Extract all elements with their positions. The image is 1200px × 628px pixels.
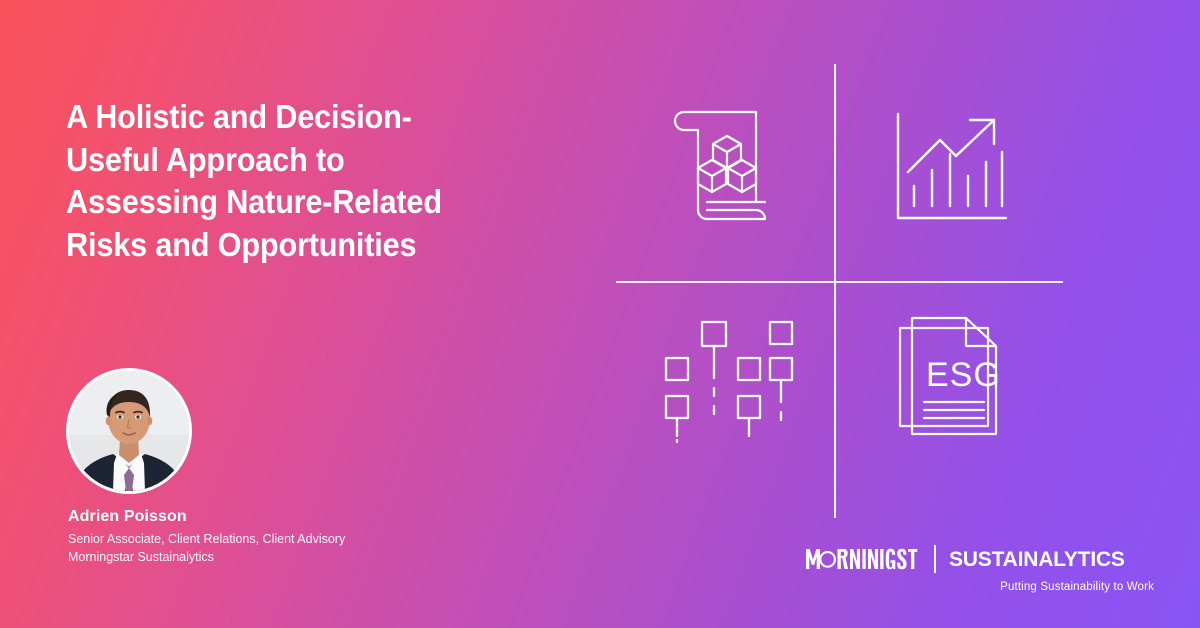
avatar-photo xyxy=(66,368,192,494)
logo-divider xyxy=(934,545,936,573)
sustainalytics-text: SUSTAINALYTICS xyxy=(949,548,1125,571)
esg-document-icon: ESG xyxy=(894,314,1006,438)
sustainalytics-wordmark-glyphs: SUSTAINALYTICS xyxy=(949,547,1149,571)
logo-tagline: Putting Sustainability to Work xyxy=(806,581,1154,593)
esg-label: ESG xyxy=(926,356,1001,394)
webinar-banner: A Holistic and Decision- Useful Approach… xyxy=(0,0,1200,628)
avatar xyxy=(66,368,192,494)
morningstar-wordmark xyxy=(806,546,920,572)
speaker-organization: Morningstar Sustainalytics xyxy=(68,549,488,567)
speaker-info: Adrien Poisson Senior Associate, Client … xyxy=(68,508,488,567)
sustainalytics-wordmark: SUSTAINALYTICS xyxy=(949,547,1149,571)
logo-row: SUSTAINALYTICS xyxy=(806,544,1154,574)
horizontal-divider xyxy=(616,281,1063,283)
vertical-divider xyxy=(834,64,836,518)
quadrant-graphic: ESG xyxy=(608,50,1078,520)
speaker-role: Senior Associate, Client Relations, Clie… xyxy=(68,531,488,549)
morningstar-wordmark-glyphs xyxy=(806,548,920,570)
data-network-icon xyxy=(658,316,784,444)
page-title: A Holistic and Decision- Useful Approach… xyxy=(66,96,512,266)
headshot-illustration xyxy=(69,371,189,491)
bar-chart-trend-icon xyxy=(890,108,1010,228)
scroll-cubes-icon xyxy=(670,102,774,232)
speaker-name: Adrien Poisson xyxy=(68,508,488,526)
brand-logo: SUSTAINALYTICS Putting Sustainability to… xyxy=(806,544,1154,593)
